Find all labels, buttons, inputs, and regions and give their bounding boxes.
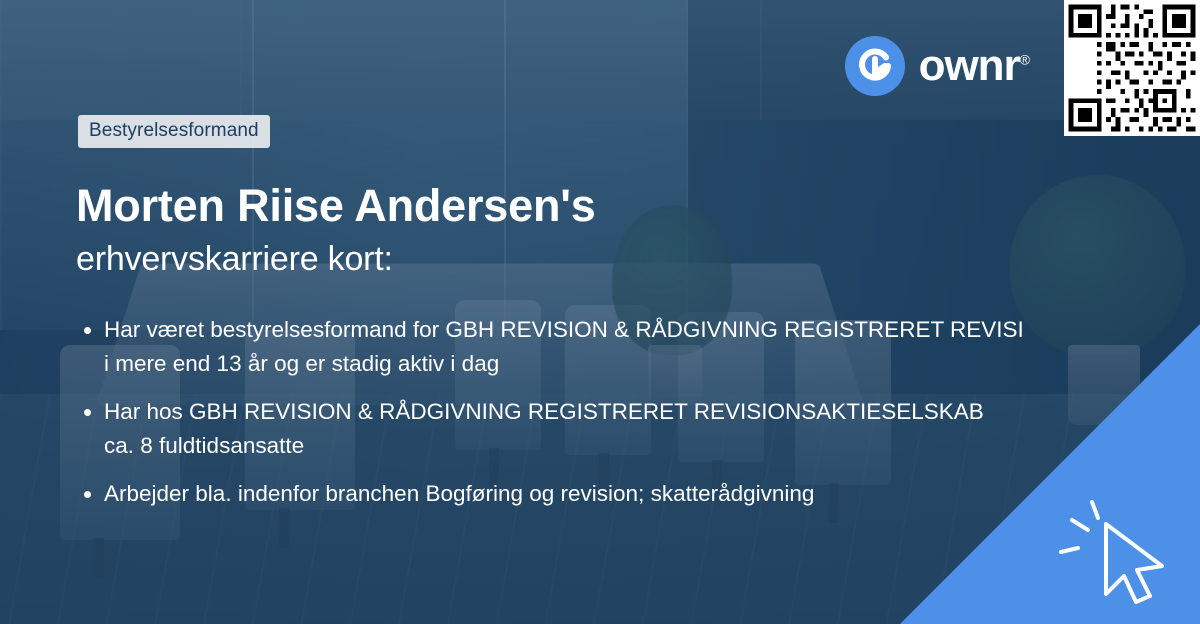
qr-code[interactable] [1064, 0, 1200, 136]
list-item-line-2: ca. 8 fuldtidsansatte [104, 431, 1200, 461]
list-item: Har hos GBH REVISION & RÅDGIVNING REGIST… [78, 397, 1200, 461]
list-item: Har været bestyrelsesformand for GBH REV… [78, 315, 1200, 379]
title-line-1: Morten Riise Andersen's [76, 180, 596, 231]
page-title: Morten Riise Andersen's erhvervskarriere… [76, 180, 1116, 282]
ownr-logo[interactable]: ownr® [845, 36, 1030, 96]
list-item-line-2: i mere end 13 år og er stadig aktiv i da… [104, 349, 1200, 379]
ownr-circular-arrow-mark-icon [845, 36, 905, 96]
list-item-line-1: Arbejder bla. indenfor branchen Bogførin… [104, 481, 814, 506]
registered-trademark-symbol: ® [1020, 51, 1030, 67]
ownr-wordmark-text: ownr [919, 41, 1020, 90]
promo-card: Bestyrelsesformand Morten Riise Andersen… [0, 0, 1200, 624]
content-layer: Bestyrelsesformand Morten Riise Andersen… [0, 0, 1200, 624]
list-item: Arbejder bla. indenfor branchen Bogførin… [78, 479, 1200, 509]
list-item-line-1: Har været bestyrelsesformand for GBH REV… [104, 317, 1024, 342]
list-item-line-1: Har hos GBH REVISION & RÅDGIVNING REGIST… [104, 399, 984, 424]
career-summary-list: Har været bestyrelsesformand for GBH REV… [78, 315, 1200, 527]
title-line-2: erhvervskarriere kort: [76, 236, 1116, 282]
role-badge: Bestyrelsesformand [78, 115, 270, 148]
ownr-wordmark: ownr® [919, 41, 1030, 91]
